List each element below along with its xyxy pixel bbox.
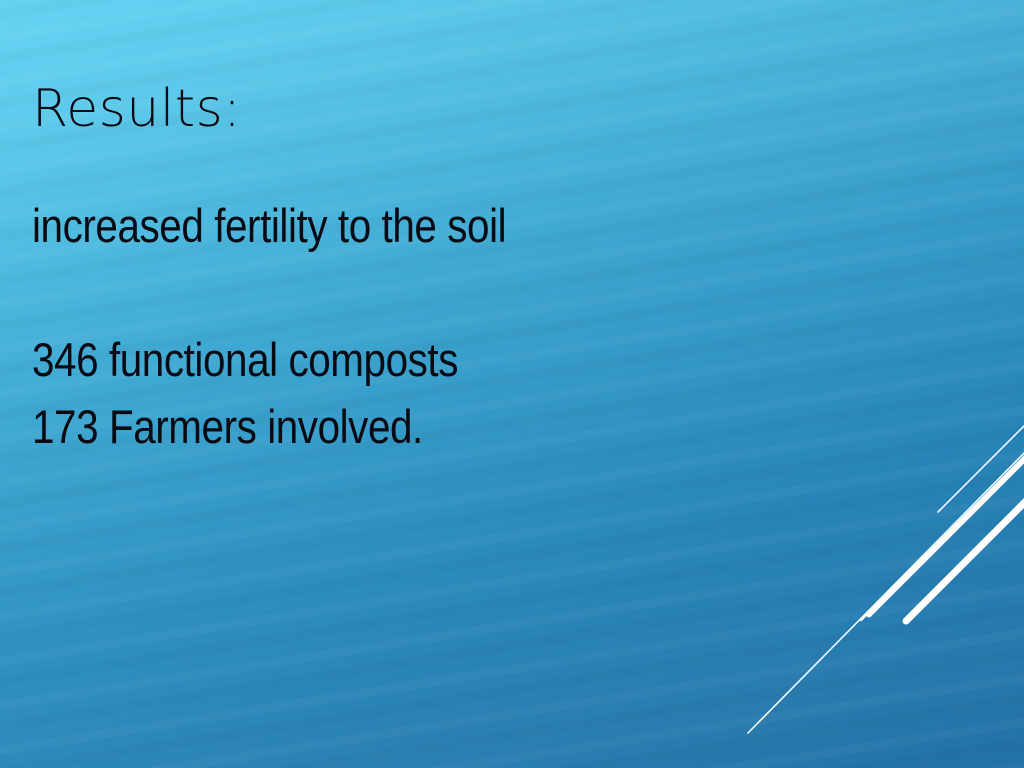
body-paragraph-spacer <box>32 259 932 326</box>
decor-line-2 <box>861 451 1024 620</box>
slide-title: Results: <box>32 78 932 140</box>
slide-body-line-composts: 346 functional composts <box>32 326 806 393</box>
slide-body-line-farmers: 173 Farmers involved. <box>32 393 806 460</box>
title-body-spacer <box>32 140 932 192</box>
decor-line-3 <box>869 454 1024 615</box>
decor-line-group <box>748 420 1024 733</box>
decor-line-4 <box>938 420 1024 512</box>
slide-canvas: Results: increased fertility to the soil… <box>0 0 1024 768</box>
decor-line-5 <box>906 497 1024 621</box>
slide-text-block: Results: increased fertility to the soil… <box>32 78 932 460</box>
slide-body-line-fertility: increased fertility to the soil <box>32 192 806 259</box>
decor-line-1 <box>748 447 1024 733</box>
